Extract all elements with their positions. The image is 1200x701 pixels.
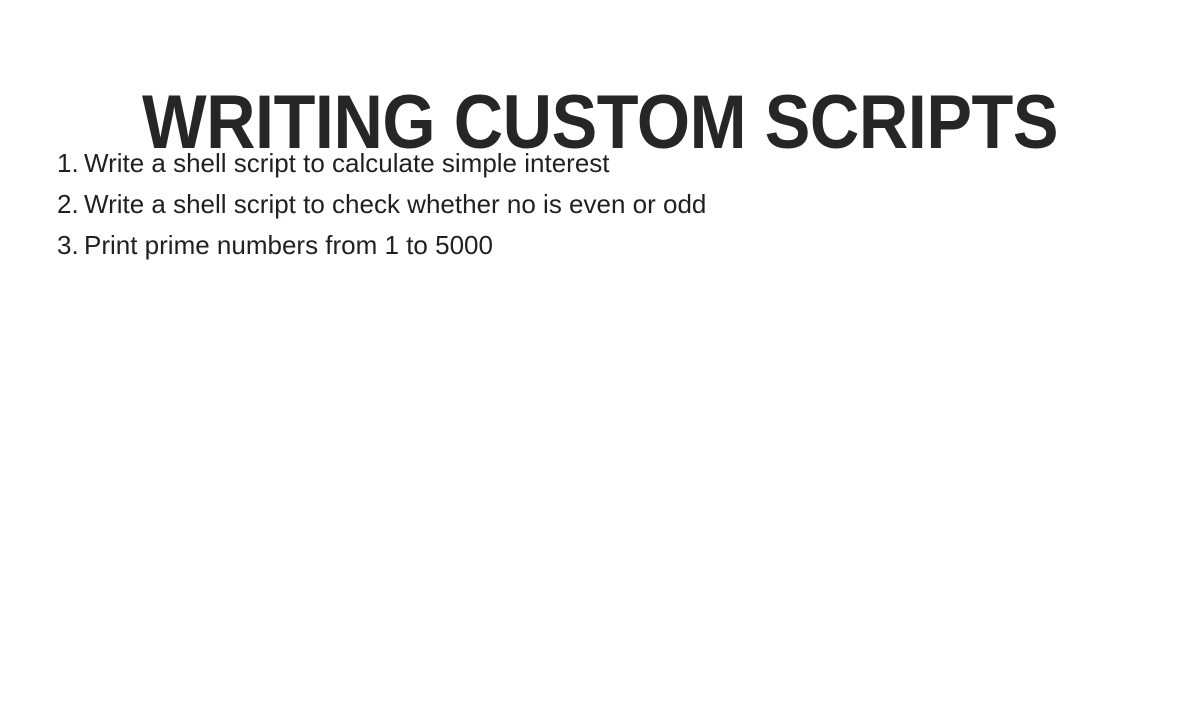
list-item-label: Write a shell script to check whether no… [84, 184, 706, 225]
list-item: 3. Print prime numbers from 1 to 5000 [57, 225, 1117, 266]
task-list: 1. Write a shell script to calculate sim… [57, 143, 1117, 266]
list-item-label: Write a shell script to calculate simple… [84, 143, 610, 184]
list-item-label: Print prime numbers from 1 to 5000 [84, 225, 493, 266]
slide-canvas: WRITING CUSTOM SCRIPTS 1. Write a shell … [0, 0, 1200, 701]
list-item-marker: 2. [57, 184, 84, 225]
list-item-marker: 1. [57, 143, 84, 184]
list-item: 1. Write a shell script to calculate sim… [57, 143, 1117, 184]
list-item: 2. Write a shell script to check whether… [57, 184, 1117, 225]
list-item-marker: 3. [57, 225, 84, 266]
